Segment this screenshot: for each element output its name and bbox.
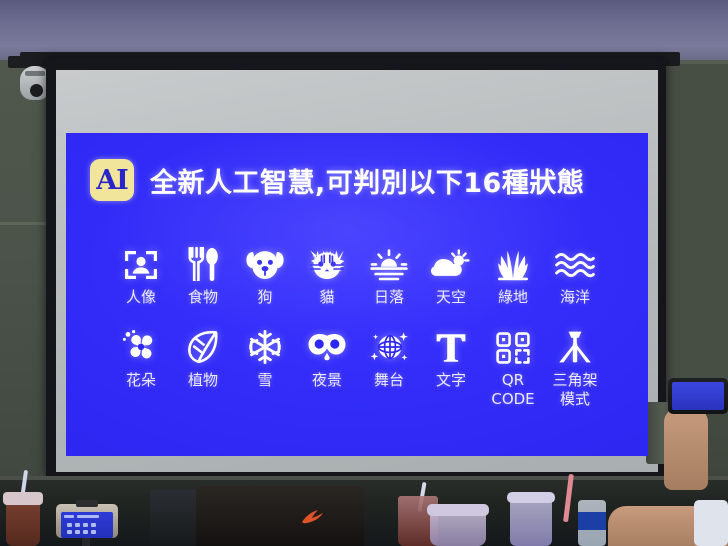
person-hand xyxy=(664,408,708,490)
scene-item-snow: 雪 xyxy=(234,324,296,408)
water-bottle xyxy=(578,500,606,546)
cup-lid xyxy=(3,492,43,505)
slide-headline-row: AI 全新人工智慧,可判別以下16種狀態 xyxy=(90,159,584,201)
grass-icon xyxy=(495,241,531,281)
plant-icon xyxy=(186,324,220,364)
scene-item-text: 文字 xyxy=(420,324,482,408)
scene-item-greenery: 綠地 xyxy=(482,241,544,306)
scene-label: 食物 xyxy=(188,288,218,306)
scene-label: 綠地 xyxy=(498,288,528,306)
stage-icon xyxy=(370,324,408,364)
tripod-icon xyxy=(557,324,593,364)
scene-label: 雪 xyxy=(257,371,272,389)
sunset-icon xyxy=(370,241,408,281)
scene-item-tripod: 三角架 模式 xyxy=(544,324,606,408)
scene-label: 植物 xyxy=(188,371,218,389)
scene-label: 花朵 xyxy=(126,371,156,389)
scene-item-food: 食物 xyxy=(172,241,234,306)
ai-badge-label: AI xyxy=(96,167,128,194)
tripod-stand xyxy=(82,538,90,546)
handheld-phone[interactable] xyxy=(668,378,728,414)
snow-icon xyxy=(248,324,282,364)
wall-panel-right xyxy=(666,64,728,404)
night-owl-icon xyxy=(307,324,347,364)
scene-label: 夜景 xyxy=(312,371,342,389)
scene-item-sunset: 日落 xyxy=(358,241,420,306)
scene-label: 貓 xyxy=(319,288,334,306)
dog-icon xyxy=(245,241,285,281)
scene-label: 海洋 xyxy=(560,288,590,306)
scene-row-2: 花朵 植物 xyxy=(110,324,610,408)
rog-logo-icon xyxy=(300,508,330,526)
handheld-phone-screen[interactable] xyxy=(672,382,724,410)
desk-edge xyxy=(0,476,728,480)
camera-slot xyxy=(25,71,45,76)
projected-slide: AI 全新人工智慧,可判別以下16種狀態 人像 xyxy=(66,133,648,456)
scene-item-stage: 舞台 xyxy=(358,324,420,408)
scene-item-ocean: 海洋 xyxy=(544,241,606,306)
scene-label: 狗 xyxy=(257,288,272,306)
scene-label: 三角架 模式 xyxy=(552,371,597,408)
phone-on-tripod[interactable] xyxy=(56,500,122,546)
person-sleeve xyxy=(694,500,728,546)
qrcode-icon xyxy=(496,324,530,364)
cup-lid xyxy=(427,504,489,516)
drink-cup xyxy=(510,496,552,546)
ai-badge: AI xyxy=(90,159,134,201)
flower-icon xyxy=(122,324,160,364)
scene-item-dog: 狗 xyxy=(234,241,296,306)
camera-lens xyxy=(30,84,43,97)
cup-lid xyxy=(507,492,555,503)
scene-label: 舞台 xyxy=(374,371,404,389)
phone-screen[interactable] xyxy=(61,512,113,538)
slide-headline: 全新人工智慧,可判別以下16種狀態 xyxy=(150,161,584,200)
bottle-label xyxy=(578,512,606,530)
scene-item-flower: 花朵 xyxy=(110,324,172,408)
scene-item-cat: 貓 xyxy=(296,241,358,306)
drink-cup xyxy=(430,508,486,546)
ocean-icon xyxy=(555,241,595,281)
scene-item-sky: 天空 xyxy=(420,241,482,306)
scene-item-qrcode: QR CODE xyxy=(482,324,544,408)
scene-item-portrait: 人像 xyxy=(110,241,172,306)
gaming-laptop xyxy=(196,486,364,546)
drink-cup xyxy=(6,492,40,546)
text-icon xyxy=(435,324,467,364)
scene-label: 人像 xyxy=(126,288,156,306)
scene-item-nightview: 夜景 xyxy=(296,324,358,408)
food-icon xyxy=(187,241,219,281)
photo-scene: AI 全新人工智慧,可判別以下16種狀態 人像 xyxy=(0,0,728,546)
scene-item-plant: 植物 xyxy=(172,324,234,408)
scene-label: 天空 xyxy=(436,288,466,306)
phone-clip xyxy=(76,500,98,507)
scene-label: 日落 xyxy=(374,288,404,306)
cat-icon xyxy=(307,241,347,281)
scene-label: QR CODE xyxy=(491,371,534,408)
sky-icon xyxy=(431,241,471,281)
scene-row-1: 人像 食物 xyxy=(110,241,610,306)
phone-body xyxy=(56,504,118,538)
scene-icon-grid: 人像 食物 xyxy=(110,241,610,408)
portrait-icon xyxy=(123,241,159,281)
scene-label: 文字 xyxy=(436,371,466,389)
